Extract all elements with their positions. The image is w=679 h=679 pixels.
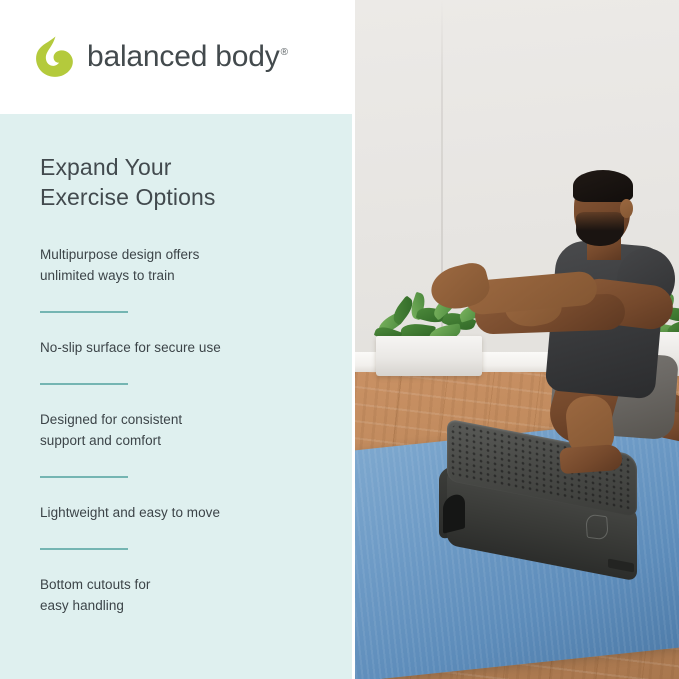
registered-trademark-icon: ® bbox=[281, 47, 288, 58]
brand-name-text: balanced body bbox=[87, 40, 280, 73]
balanced-body-swirl-logo-icon bbox=[35, 35, 75, 79]
feature-item: No-slip surface for secure use bbox=[40, 337, 322, 358]
feature-divider bbox=[40, 548, 128, 550]
feature-list: Multipurpose design offers unlimited way… bbox=[40, 244, 322, 616]
feature-item: Lightweight and easy to move bbox=[40, 502, 322, 523]
feature-info-panel: Expand Your Exercise Options Multipurpos… bbox=[0, 114, 352, 679]
person-hair bbox=[573, 170, 633, 202]
feature-item: Bottom cutouts for easy handling bbox=[40, 574, 322, 616]
left-column: balanced body® Expand Your Exercise Opti… bbox=[0, 0, 355, 679]
brand-header: balanced body® bbox=[0, 0, 355, 114]
person-ear bbox=[620, 199, 633, 218]
panel-heading: Expand Your Exercise Options bbox=[40, 152, 322, 212]
feature-divider bbox=[40, 476, 128, 478]
feature-item: Designed for consistent support and comf… bbox=[40, 409, 322, 451]
feature-divider bbox=[40, 383, 128, 385]
product-lifestyle-photo bbox=[355, 0, 679, 679]
feature-item: Multipurpose design offers unlimited way… bbox=[40, 244, 322, 286]
brand-wordmark: balanced body® bbox=[87, 40, 288, 74]
person-front-foot bbox=[559, 444, 623, 474]
person-exercising bbox=[355, 0, 679, 679]
product-feature-card: balanced body® Expand Your Exercise Opti… bbox=[0, 0, 679, 679]
brand-lockup: balanced body® bbox=[0, 35, 288, 79]
feature-divider bbox=[40, 311, 128, 313]
person-beard bbox=[576, 212, 624, 246]
